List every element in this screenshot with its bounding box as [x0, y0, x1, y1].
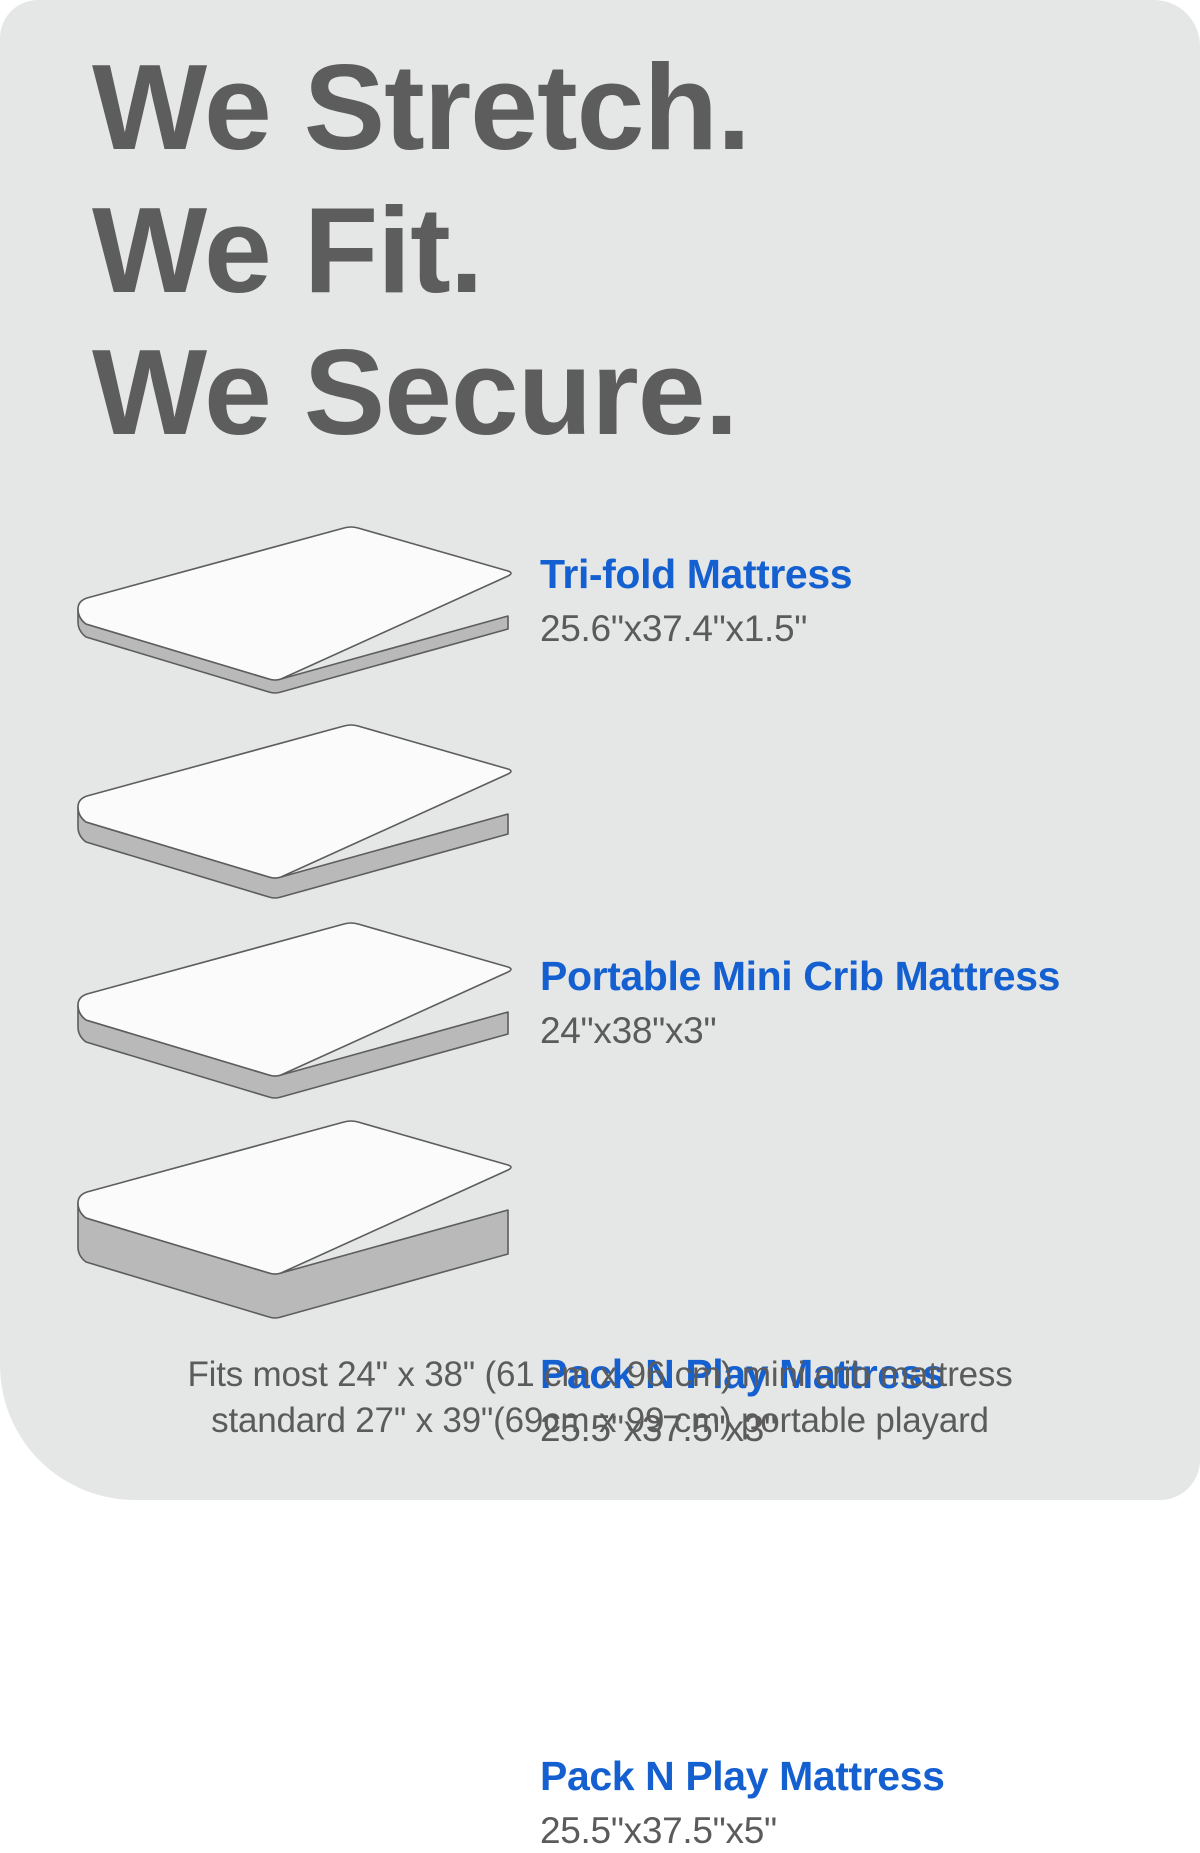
product-name: Pack N Play Mattress: [540, 1755, 1180, 1798]
footer-line-1: Fits most 24" x 38" (61 cm x 96 cm) mini…: [0, 1352, 1200, 1398]
footer-line-2: standard 27" x 39"(69cm x 99 cm) portabl…: [0, 1398, 1200, 1444]
mattress-slab-icon: [62, 723, 517, 921]
mattress-slab-icon: [62, 1119, 517, 1317]
product-labels: Pack N Play Mattress 25.5"x37.5"x5": [540, 1755, 1180, 1853]
product-row: Portable Mini Crib Mattress 24"x38"x3": [0, 723, 1200, 921]
footer-note: Fits most 24" x 38" (61 cm x 96 cm) mini…: [0, 1352, 1200, 1443]
headline-line-3: We Secure.: [92, 321, 992, 464]
product-row: Pack N Play Mattress 25.5"x37.5"x3": [0, 921, 1200, 1119]
mattress-slab-icon: [62, 525, 517, 723]
product-dimensions: 25.5"x37.5"x5": [540, 1809, 1180, 1853]
headline-line-2: We Fit.: [92, 179, 992, 322]
mattress-slab-icon: [62, 921, 517, 1119]
product-dimensions: 25.6"x37.4"x1.5": [540, 607, 1180, 651]
product-labels: Tri-fold Mattress 25.6"x37.4"x1.5": [540, 553, 1180, 651]
product-list: Tri-fold Mattress 25.6"x37.4"x1.5" Porta…: [0, 525, 1200, 1317]
headline-line-1: We Stretch.: [92, 36, 992, 179]
product-row: Pack N Play Mattress 25.5"x37.5"x5": [0, 1119, 1200, 1317]
product-row: Tri-fold Mattress 25.6"x37.4"x1.5": [0, 525, 1200, 723]
headline-block: We Stretch. We Fit. We Secure.: [92, 36, 992, 464]
product-name: Tri-fold Mattress: [540, 553, 1180, 596]
